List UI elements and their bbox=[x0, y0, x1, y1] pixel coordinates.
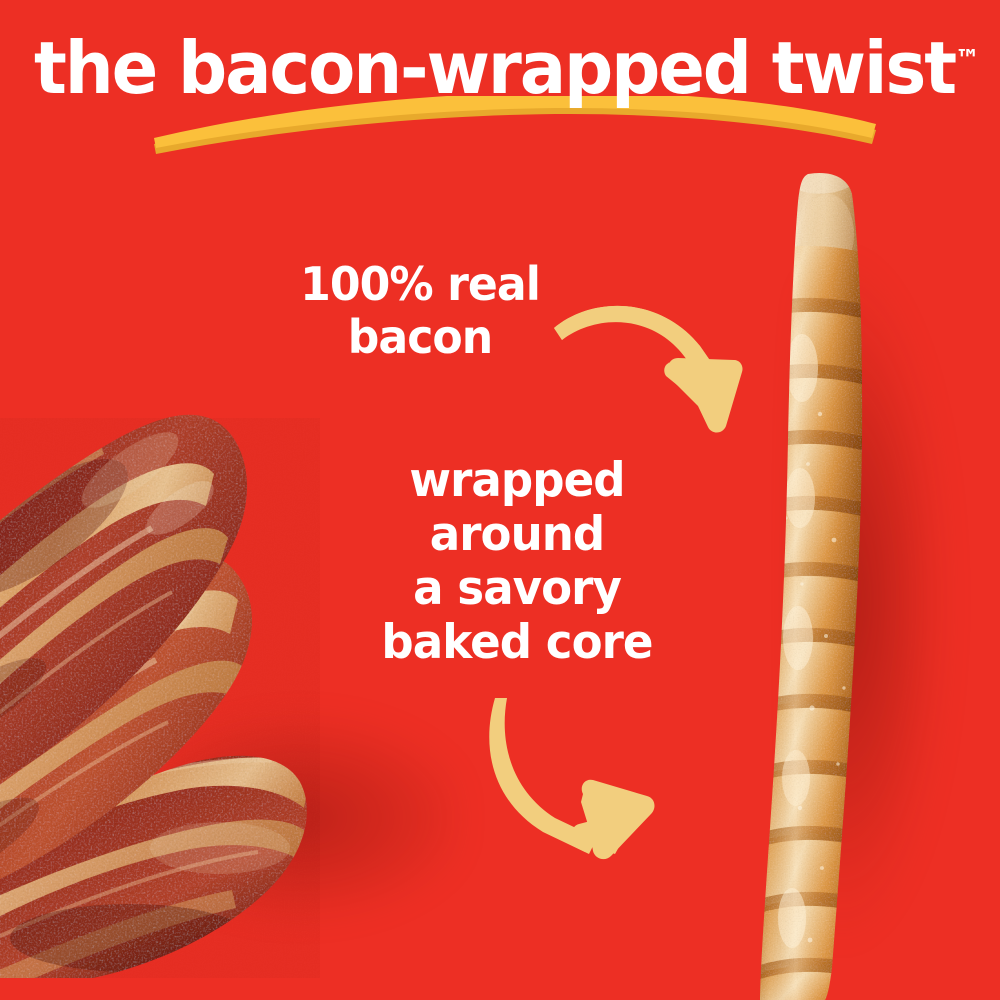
headline-block: the bacon-wrapped twist™ bbox=[0, 0, 1000, 160]
callout-100-percent-real-bacon: 100% real bacon bbox=[274, 258, 566, 364]
product-ad-canvas: the bacon-wrapped twist™ 100% real bacon… bbox=[0, 0, 1000, 1000]
page-title-text: the bacon-wrapped twist bbox=[34, 26, 955, 110]
curved-arrow-top-right-icon bbox=[548, 280, 768, 435]
trademark-symbol: ™ bbox=[955, 45, 980, 75]
bacon-strips-photo bbox=[0, 378, 400, 978]
callout-wrapped-around-savory-baked-core: wrapped around a savory baked core bbox=[359, 454, 676, 670]
bacon-texture-overlay bbox=[0, 418, 320, 978]
curved-arrow-bottom-right-icon bbox=[455, 690, 690, 870]
page-title: the bacon-wrapped twist™ bbox=[34, 22, 980, 106]
